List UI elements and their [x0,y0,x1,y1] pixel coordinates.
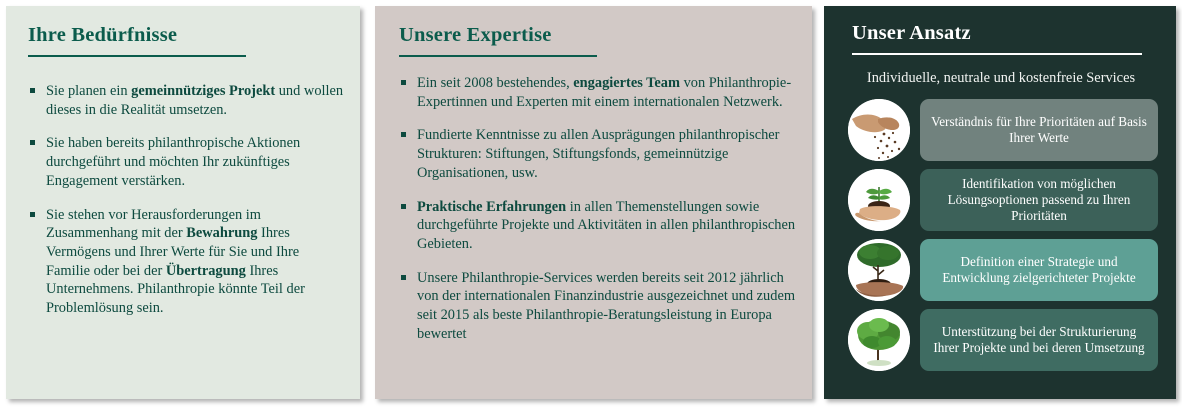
approach-step-row: Unterstützung bei der Strukturierung Ihr… [848,308,1158,372]
expertise-title: Unsere Expertise [399,24,599,47]
emphasis-text: Übertragung [166,263,246,279]
needs-bullet-item: Sie planen ein gemeinnütziges Projekt un… [28,82,346,119]
needs-title: Ihre Bedürfnisse [28,24,258,47]
expertise-bullet-list: Ein seit 2008 bestehendes, engagiertes T… [399,74,799,359]
approach-step-row: Verständnis für Ihre Prioritäten auf Bas… [848,98,1158,162]
expertise-header: Unsere Expertise [399,24,599,57]
expertise-bullet-item: Ein seit 2008 bestehendes, engagiertes T… [399,74,799,111]
needs-bullet-item: Sie stehen vor Herausforderungen im Zusa… [28,206,346,318]
approach-step-label: Definition einer Strategie und Entwicklu… [920,239,1158,301]
expertise-bullet-item: Praktische Erfahrungen in allen Themenst… [399,198,799,254]
expertise-bullet-item: Unsere Philanthropie-Services werden ber… [399,269,799,344]
slide-root: Ihre Bedürfnisse Sie planen ein gemeinnü… [0,0,1182,411]
hand-holding-seedling-icon [848,169,910,231]
emphasis-text: Bewahrung [186,225,257,241]
approach-step-label: Unterstützung bei der Strukturierung Ihr… [920,309,1158,371]
body-text: Sie haben bereits philanthropische Aktio… [46,135,300,188]
hand-sowing-seeds-icon [848,99,910,161]
needs-bullet-list: Sie planen ein gemeinnütziges Projekt un… [28,82,346,333]
body-text: Unsere Philanthropie-Services werden ber… [417,270,795,342]
expertise-title-underline [399,55,597,57]
emphasis-text: engagiertes Team [573,75,680,91]
hand-holding-small-tree-icon [848,239,910,301]
body-text: Fundierte Kenntnisse zu allen Ausprägung… [417,127,779,180]
expertise-bullet-item: Fundierte Kenntnisse zu allen Ausprägung… [399,126,799,182]
approach-title: Unser Ansatz [852,22,1152,45]
approach-step-row: Definition einer Strategie und Entwicklu… [848,238,1158,302]
approach-step-label: Verständnis für Ihre Prioritäten auf Bas… [920,99,1158,161]
full-grown-tree-icon [848,309,910,371]
panel-unsere-expertise: Unsere Expertise Ein seit 2008 bestehend… [375,6,812,399]
needs-bullet-item: Sie haben bereits philanthropische Aktio… [28,134,346,190]
approach-header: Unser Ansatz [852,22,1152,55]
approach-step-label: Identifikation von möglichen Lösungsopti… [920,169,1158,231]
approach-title-underline [852,53,1142,55]
panel-unser-ansatz: Unser Ansatz Individuelle, neutrale und … [824,6,1176,399]
body-text: Ein seit 2008 bestehendes, [417,75,573,91]
needs-header: Ihre Bedürfnisse [28,24,258,57]
emphasis-text: Praktische Erfahrungen [417,199,566,215]
emphasis-text: gemeinnütziges Projekt [131,83,275,99]
panel-ihre-beduerfnisse: Ihre Bedürfnisse Sie planen ein gemeinnü… [6,6,360,399]
body-text: Sie planen ein [46,83,131,99]
approach-step-list: Verständnis für Ihre Prioritäten auf Bas… [848,98,1158,378]
approach-subtitle: Individuelle, neutrale und kostenfreie S… [848,70,1154,87]
needs-title-underline [28,55,246,57]
approach-step-row: Identifikation von möglichen Lösungsopti… [848,168,1158,232]
